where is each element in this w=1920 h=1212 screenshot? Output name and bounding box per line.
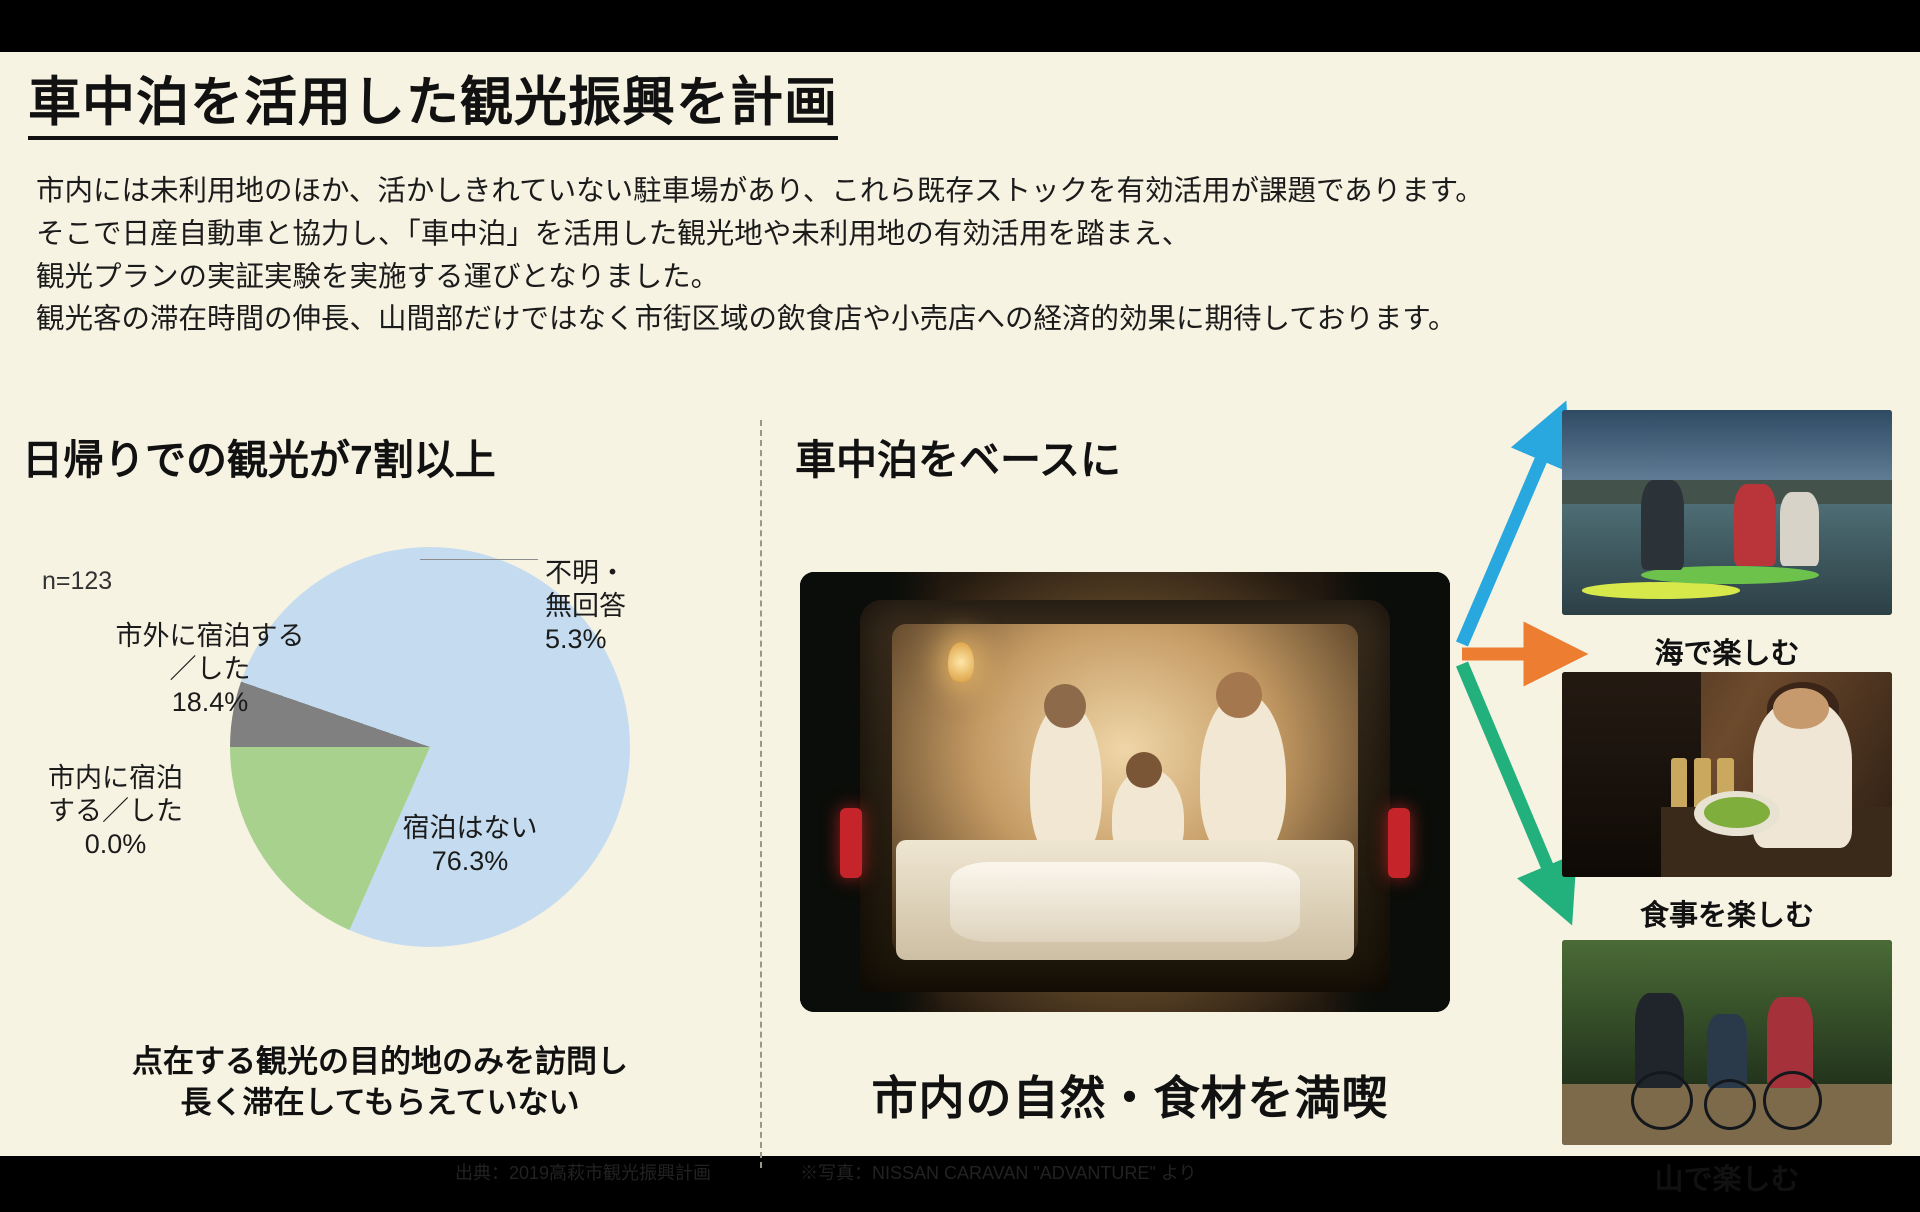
family-in-van-photo — [800, 572, 1450, 1012]
slide-canvas: 車中泊を活用した観光振興を計画 市内には未利用地のほか、活かしきれていない駐車場… — [0, 0, 1920, 1200]
pie-label-outside-text: 市外に宿泊する ／した — [116, 621, 305, 684]
mountain-biking-photo — [1562, 940, 1892, 1145]
pie-label-unknown-text: 不明・ 無回答 — [545, 558, 626, 621]
pie-label-none-text: 宿泊はない — [403, 813, 538, 843]
mid-heading: 車中泊をベースに — [795, 426, 1121, 486]
pie-label-unknown: 不明・ 無回答 5.3% — [545, 557, 626, 656]
page-title: 車中泊を活用した観光振興を計画 — [28, 74, 838, 140]
pie-value-none: 76.3% — [432, 846, 509, 876]
source-left: 出典：2019高萩市観光振興計画 — [455, 1159, 711, 1185]
source-mid: ※写真：NISSAN CARAVAN "ADVANTURE" より — [800, 1159, 1196, 1185]
pie-value-inside: 0.0% — [85, 829, 147, 859]
pie-label-none: 宿泊はない 76.3% — [355, 812, 585, 878]
left-note: 点在する観光の目的地のみを訪問し 長く滞在してもらえていない — [50, 1042, 710, 1124]
letterbox-top — [0, 0, 1920, 52]
sea-activity-photo — [1562, 410, 1892, 615]
pie-label-outside: 市外に宿泊する ／した 18.4% — [60, 620, 360, 719]
arrow-to-sea — [1462, 434, 1552, 644]
pie-value-outside: 18.4% — [172, 687, 249, 717]
left-heading: 日帰りでの観光が7割以上 — [22, 426, 496, 486]
pie-value-unknown: 5.3% — [545, 624, 607, 654]
slide-body: 車中泊を活用した観光振興を計画 市内には未利用地のほか、活かしきれていない駐車場… — [0, 52, 1920, 1156]
van-scene — [800, 572, 1450, 1012]
arrow-to-mountain — [1462, 664, 1558, 892]
mountain-biking-caption: 山で楽しむ — [1562, 1156, 1892, 1198]
meal-photo — [1562, 672, 1892, 877]
mid-note: 市内の自然・食材を満喫 — [790, 1062, 1470, 1128]
sea-activity-caption: 海で楽しむ — [1562, 630, 1892, 672]
pie-label-inside-text: 市内に宿泊 する／した — [48, 763, 183, 826]
lantern-light — [948, 642, 974, 682]
column-divider — [760, 420, 762, 1168]
lead-paragraph: 市内には未利用地のほか、活かしきれていない駐車場があり、これら既存ストックを有効… — [36, 170, 1484, 341]
sample-size-label: n=123 — [42, 567, 112, 596]
meal-caption: 食事を楽しむ — [1562, 892, 1892, 934]
unknown-leader-line — [420, 559, 538, 560]
pie-label-inside: 市内に宿泊 する／した 0.0% — [8, 762, 223, 861]
